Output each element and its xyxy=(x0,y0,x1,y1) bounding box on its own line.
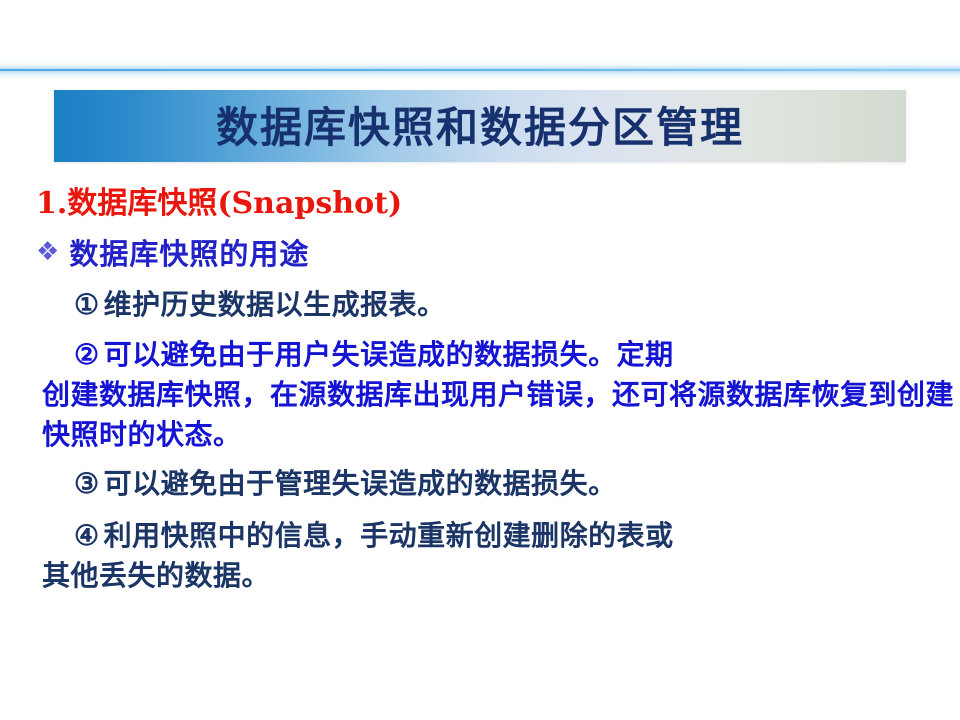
bullet-label: 数据库快照的用途 xyxy=(69,231,309,273)
slide-body: 1.数据库快照(Snapshot) ❖ 数据库快照的用途 ①维护历史数据以生成报… xyxy=(0,186,960,600)
list-item: ③可以避免由于管理失误造成的数据损失。 xyxy=(74,464,960,504)
list-item-number: ② xyxy=(74,338,100,371)
diamond-bullet-icon: ❖ xyxy=(36,239,59,265)
list-item-number: ④ xyxy=(74,519,100,552)
slide-title-banner: 数据库快照和数据分区管理 xyxy=(54,90,906,162)
list-item-number: ① xyxy=(74,288,100,321)
presentation-slide: 数据库快照和数据分区管理 1.数据库快照(Snapshot) ❖ 数据库快照的用… xyxy=(0,0,960,720)
list-item: ④利用快照中的信息，手动重新创建删除的表或 其他丢失的数据。 xyxy=(74,516,960,596)
list-item: ②可以避免由于用户失误造成的数据损失。定期 创建数据库快照，在源数据库出现用户错… xyxy=(74,335,960,454)
slide-title: 数据库快照和数据分区管理 xyxy=(54,90,906,162)
list-item-continuation: 创建数据库快照，在源数据库出现用户错误，还可将源数据库恢复到创建快照时的状态。 xyxy=(42,375,960,455)
list-item-number: ③ xyxy=(74,467,100,500)
list-item-continuation: 其他丢失的数据。 xyxy=(42,556,960,596)
list-item-text: 可以避免由于用户失误造成的数据损失。定期 xyxy=(104,338,674,371)
list-item-text: 维护历史数据以生成报表。 xyxy=(104,288,446,321)
list-item: ①维护历史数据以生成报表。 xyxy=(74,285,960,325)
decorative-top-rule xyxy=(0,58,960,82)
list-item-text: 可以避免由于管理失误造成的数据损失。 xyxy=(104,467,617,500)
bullet-line: ❖ 数据库快照的用途 xyxy=(36,231,960,273)
section-heading: 1.数据库快照(Snapshot) xyxy=(36,186,960,221)
top-rule-line xyxy=(0,69,960,71)
list-item-text: 利用快照中的信息，手动重新创建删除的表或 xyxy=(104,519,674,552)
